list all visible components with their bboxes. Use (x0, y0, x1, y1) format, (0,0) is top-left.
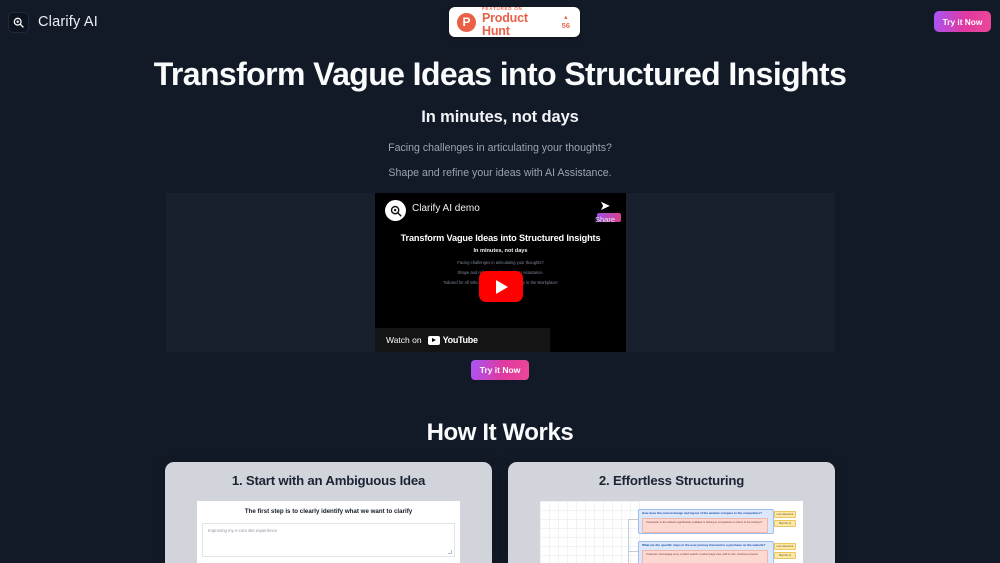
card-1-shot-heading: The first step is to clearly identify wh… (197, 501, 460, 515)
mindmap-tag-relevance[interactable]: Low relevance (774, 511, 796, 518)
try-it-now-hero-button[interactable]: Try it Now (471, 360, 529, 380)
youtube-video-player[interactable]: Clarify AI demo ➤ Share Transform Vague … (375, 193, 626, 352)
video-channel-avatar-icon (385, 200, 406, 221)
share-label: Share (595, 215, 615, 224)
upvote-count: 56 (562, 22, 570, 30)
video-thumb-title: Transform Vague Ideas into Structured In… (375, 233, 626, 243)
hero-subtitle: In minutes, not days (0, 108, 1000, 127)
mindmap-node-question: What are the specific steps in the user … (639, 542, 773, 548)
connector-line (628, 551, 638, 552)
mindmap-tag-relevance[interactable]: Low relevance (774, 543, 796, 550)
video-title[interactable]: Clarify AI demo (412, 203, 480, 214)
card-1-idea-textarea[interactable]: Improving my e-com site experience (202, 523, 455, 557)
connector-line (628, 519, 638, 520)
upvote-caret-icon: ▲ (562, 15, 570, 21)
product-hunt-text: FEATURED ON Product Hunt (482, 7, 556, 38)
brand-logo-link[interactable]: Clarify AI (0, 12, 98, 33)
video-container: Clarify AI demo ➤ Share Transform Vague … (166, 193, 835, 352)
card-2-screenshot: Current Subject How does the current des… (540, 501, 803, 563)
product-hunt-badge[interactable]: P FEATURED ON Product Hunt ▲ 56 (449, 7, 580, 37)
video-share-button[interactable]: ➤ Share (595, 200, 615, 224)
hero-line-1: Facing challenges in articulating your t… (0, 142, 1000, 154)
top-navigation-bar: Clarify AI P FEATURED ON Product Hunt ▲ … (0, 0, 1000, 44)
video-thumb-line-1: Facing challenges in articulating your t… (375, 260, 626, 265)
youtube-wordmark: YouTube (443, 335, 478, 345)
try-it-now-nav-button[interactable]: Try it Now (934, 11, 991, 32)
product-hunt-logo-icon: P (457, 13, 476, 32)
card-1-screenshot: The first step is to clearly identify wh… (197, 501, 460, 563)
mindmap-node-answer-box: Competitor in the website significantly … (642, 518, 768, 533)
how-it-works-cards: 1. Start with an Ambiguous Idea The firs… (0, 462, 1000, 563)
card-2-title: 2. Effortless Structuring (508, 462, 835, 488)
hero-section: Transform Vague Ideas into Structured In… (0, 44, 1000, 204)
mindmap-node-question: How does the current design and layout o… (639, 510, 773, 516)
video-thumb-subtitle: In minutes, not days (375, 248, 626, 254)
watch-on-label: Watch on (386, 335, 422, 345)
watch-on-youtube-link[interactable]: Watch on YouTube (375, 328, 550, 352)
hero-line-2: Shape and refine your ideas with AI Assi… (0, 167, 1000, 179)
page-title: Transform Vague Ideas into Structured In… (0, 56, 1000, 93)
card-1-idea-value: Improving my e-com site experience (203, 524, 454, 537)
canvas-grid (540, 501, 640, 563)
landing-page: Clarify AI P FEATURED ON Product Hunt ▲ … (0, 0, 1000, 563)
brand-name: Clarify AI (38, 14, 98, 30)
mindmap-node-tags: Low relevance Skip this Q (774, 511, 796, 529)
mindmap-node-body: How does the current design and layout o… (638, 509, 774, 534)
card-1-title: 1. Start with an Ambiguous Idea (165, 462, 492, 488)
product-hunt-upvotes: ▲ 56 (562, 15, 572, 30)
mindmap-node-answer: Customer: Homepage entry, product search… (643, 551, 767, 559)
how-it-works-heading: How It Works (0, 419, 1000, 447)
mindmap-node-tags: Low relevance Skip this Q (774, 543, 796, 561)
mindmap-node[interactable]: What are the specific steps in the user … (638, 541, 798, 563)
mindmap-node-answer-box: Customer: Homepage entry, product search… (642, 550, 768, 563)
youtube-logo-icon: YouTube (428, 335, 478, 345)
product-hunt-name: Product Hunt (482, 12, 556, 37)
mindmap-node[interactable]: How does the current design and layout o… (638, 509, 798, 534)
youtube-play-glyph (428, 336, 440, 345)
mindmap-node-answer: Competitor in the website significantly … (643, 519, 767, 527)
mindmap-canvas: Current Subject How does the current des… (540, 501, 803, 563)
mindmap-tag-skip[interactable]: Skip this Q (774, 552, 796, 559)
play-button-icon[interactable] (479, 271, 523, 302)
textarea-resize-handle-icon[interactable] (448, 550, 452, 554)
how-it-works-card-2[interactable]: 2. Effortless Structuring Current Subjec… (508, 462, 835, 563)
mindmap-node-body: What are the specific steps in the user … (638, 541, 774, 563)
connector-line (628, 519, 629, 563)
mindmap-tag-skip[interactable]: Skip this Q (774, 520, 796, 527)
share-arrow-icon: ➤ (595, 200, 615, 212)
magnifier-icon (8, 12, 29, 33)
how-it-works-card-1[interactable]: 1. Start with an Ambiguous Idea The firs… (165, 462, 492, 563)
video-header: Clarify AI demo ➤ Share (375, 200, 626, 226)
